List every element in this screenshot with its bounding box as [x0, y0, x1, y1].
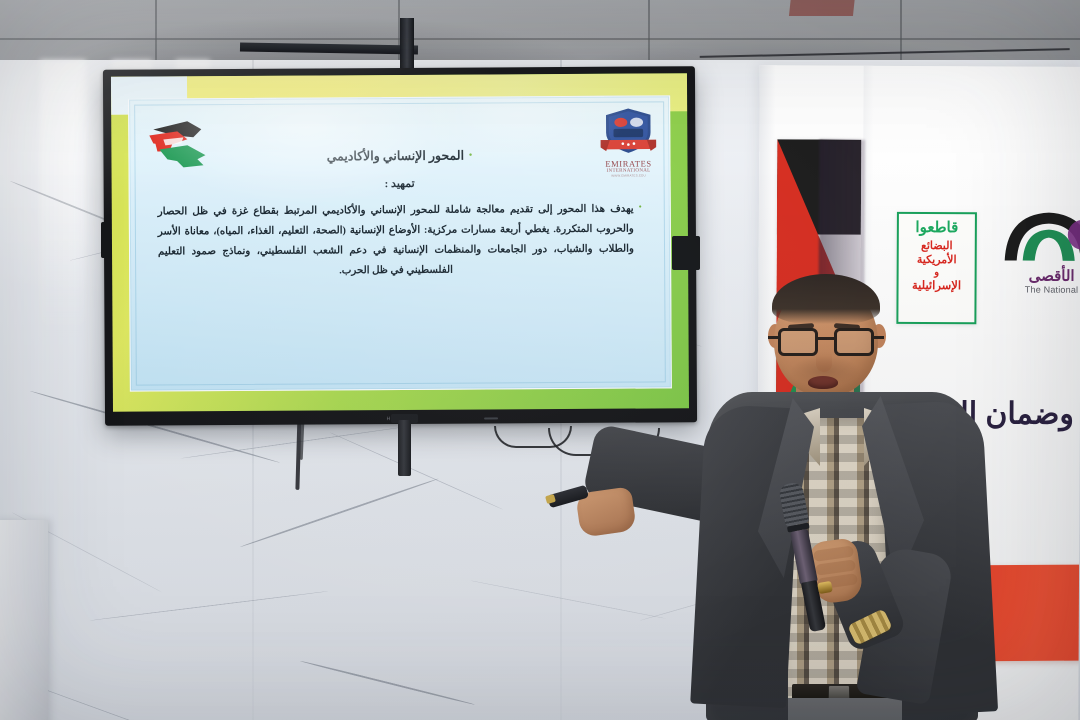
presenter-torso	[700, 392, 990, 720]
marble-vein	[90, 591, 328, 621]
tv-side-shadow	[672, 236, 700, 270]
presenter-nose	[816, 352, 832, 372]
presenter-hair	[772, 274, 880, 324]
trousers	[788, 698, 902, 720]
tv-side-shadow	[101, 222, 111, 258]
tv-power-led	[484, 417, 498, 419]
aqsa-arabic-name: الأقصى	[989, 266, 1080, 285]
wall-corner-block	[0, 520, 48, 720]
aqsa-english-name: The National	[989, 284, 1080, 295]
eyeglass-lens	[778, 328, 818, 356]
slide-body-text: يهدف هذا المحور إلى تقديم معالجة شاملة ل…	[158, 200, 634, 282]
bullet-icon: •	[639, 200, 642, 213]
tv-ceiling-pole	[400, 18, 414, 72]
marble-vein	[330, 432, 504, 510]
aqsa-arc-icon	[997, 204, 1080, 265]
slide-paragraph-row: • يهدف هذا المحور إلى تقديم معالجة شاملة…	[158, 200, 642, 283]
eyeglass-temple	[768, 336, 778, 339]
slide-title-text: المحور الإنساني والأكاديمي	[327, 149, 464, 164]
slide-text-block: •المحور الإنساني والأكاديمي تمهيد : • يه…	[157, 147, 642, 283]
boycott-line-1: قاطعوا	[902, 220, 972, 236]
marble-vein	[300, 660, 475, 705]
wall-mounted-television[interactable]: EMIRATES INTERNATIONAL WWW.EMIRATES.EDU …	[103, 66, 697, 426]
al-aqsa-logo: الأقصى The National	[988, 204, 1080, 317]
boycott-line-2: البضائع الأمريكية	[902, 240, 972, 268]
bullet-icon: •	[469, 150, 472, 160]
eyeglass-lens	[834, 328, 874, 356]
presenter-mouth	[808, 376, 838, 389]
marble-vein	[240, 478, 439, 548]
marble-vein	[470, 580, 667, 619]
wall-light-stripe	[40, 60, 86, 340]
eyeglass-temple	[874, 336, 884, 339]
tv-mount-arm	[398, 420, 411, 476]
slide-content-panel: EMIRATES INTERNATIONAL WWW.EMIRATES.EDU …	[128, 95, 672, 391]
presentation-slide: EMIRATES INTERNATIONAL WWW.EMIRATES.EDU …	[111, 73, 689, 412]
presentation-scene: EMIRATES INTERNATIONAL WWW.EMIRATES.EDU …	[0, 0, 1080, 720]
presenter	[700, 268, 990, 720]
eyeglass-bridge	[818, 337, 834, 340]
marble-vein	[20, 680, 218, 720]
slide-lead-label: تمهيد :	[158, 176, 642, 192]
slide-title: •المحور الإنساني والأكاديمي	[157, 147, 641, 166]
